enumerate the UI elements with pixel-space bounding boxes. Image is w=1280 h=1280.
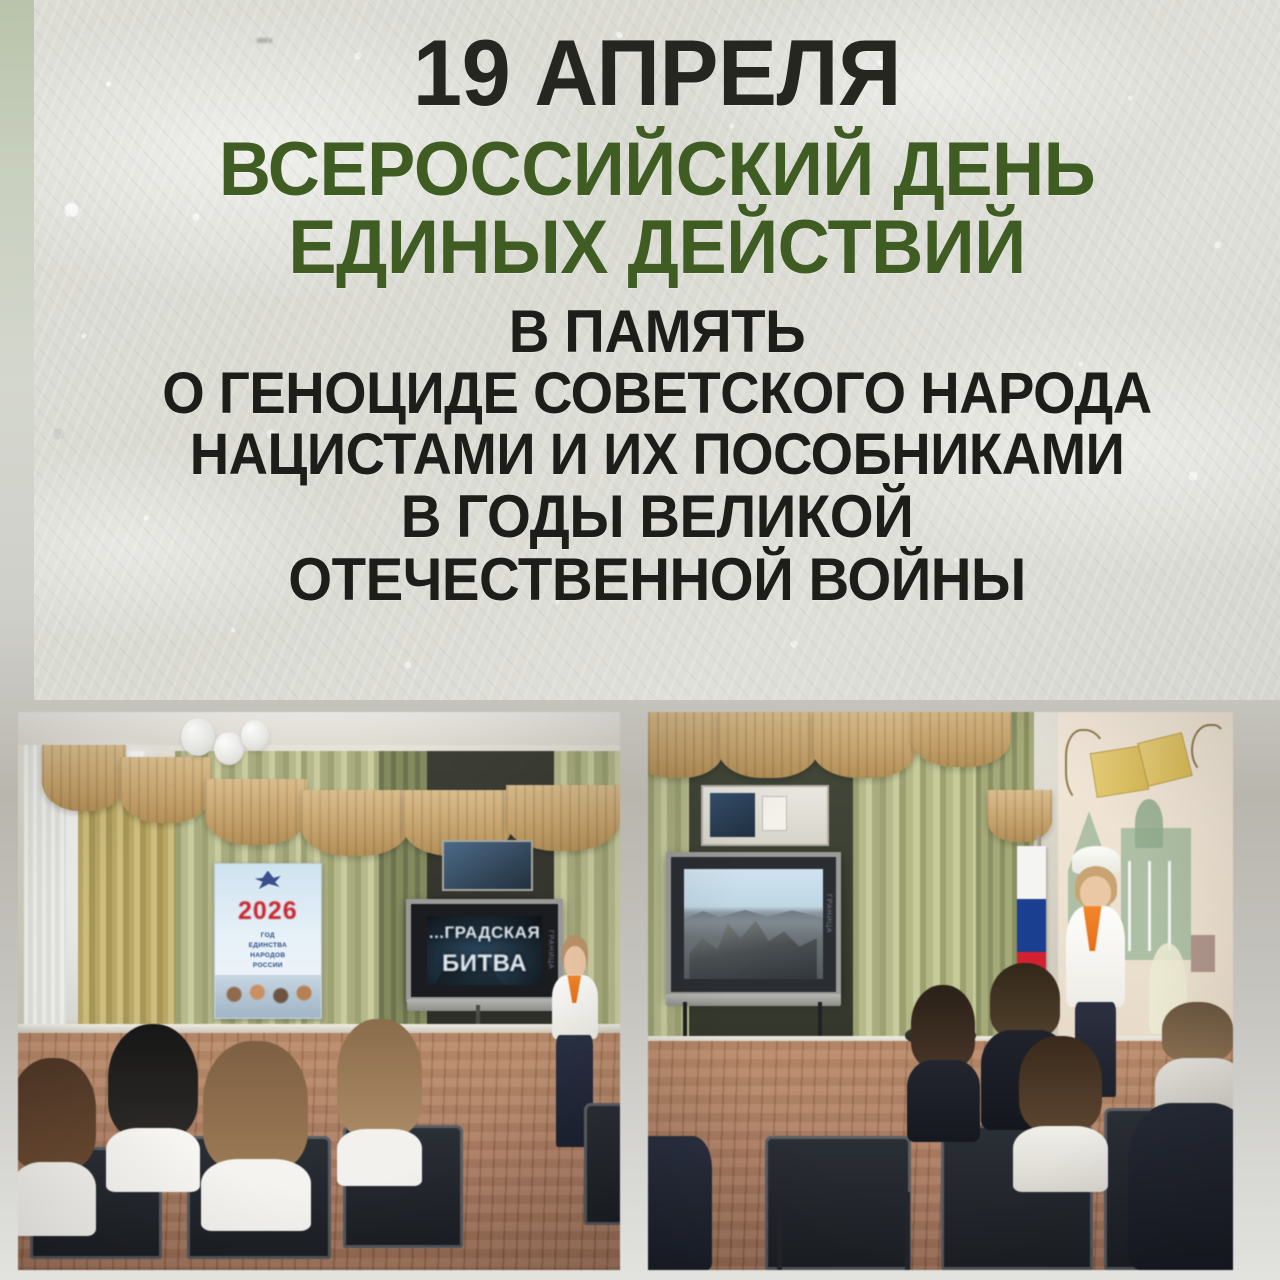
student-hair	[1019, 1036, 1103, 1133]
chair	[584, 1103, 620, 1226]
photo-right: ГРАНИЦА	[648, 712, 1233, 1270]
student-hair	[18, 1058, 96, 1169]
student	[102, 1024, 204, 1191]
student	[199, 1041, 313, 1231]
display-photo	[710, 793, 755, 837]
wall-display-board	[701, 785, 830, 846]
chair	[765, 1136, 911, 1270]
student-shirt	[106, 1128, 200, 1192]
mural-scribble-2	[1191, 724, 1226, 774]
student	[1011, 1036, 1110, 1192]
war-footage-frame	[684, 869, 823, 980]
valance-swag-5	[987, 790, 1051, 842]
valance-swag-2	[718, 712, 817, 778]
presenter-head	[564, 946, 586, 978]
smartboard[interactable]: ГРАНИЦА	[666, 852, 842, 997]
valance-swag-4	[301, 790, 409, 856]
student	[1128, 1103, 1233, 1270]
student-shirt	[201, 1159, 311, 1231]
headline-body-2: О ГЕНОЦИДЕ СОВЕТСКОГО НАРОДА	[71, 365, 1242, 423]
wall-monitor	[442, 840, 532, 890]
student-shirt	[337, 1129, 422, 1186]
mural-band	[1191, 935, 1216, 972]
banner-photo-collage	[215, 975, 321, 1018]
chair-leg	[777, 1203, 782, 1270]
valance-swag-3	[812, 712, 917, 778]
valance-swag-3	[205, 779, 307, 845]
headline-green-1: ВСЕРОССИЙСКИЙ ДЕНЬ	[65, 132, 1249, 208]
photo-left: ...ГРАДСКАЯ БИТВА ГРАНИЦА 2026 ГОДЕДИНСТ…	[18, 712, 620, 1270]
banner-subtitle: ГОДЕДИНСТВАНАРОДОВРОССИИ	[249, 931, 287, 971]
smartboard-tray	[666, 994, 841, 1006]
speaker-head	[1080, 876, 1111, 909]
footage-ridge	[684, 906, 823, 922]
dove-icon	[255, 871, 281, 891]
student-shirt	[18, 1162, 96, 1237]
headline-body-1: В ПАМЯТЬ	[71, 302, 1242, 362]
student-hair	[108, 1024, 198, 1138]
smartboard-side-label: ГРАНИЦА	[825, 894, 832, 934]
headline-panel: 19 АПРЕЛЯ ВСЕРОССИЙСКИЙ ДЕНЬ ЕДИНЫХ ДЕЙС…	[34, 0, 1280, 700]
mural-arches	[1124, 861, 1187, 952]
student-jacket	[1128, 1103, 1233, 1270]
headline-block: 19 АПРЕЛЯ ВСЕРОССИЙСКИЙ ДЕНЬ ЕДИНЫХ ДЕЙС…	[34, 0, 1280, 610]
headline-body-5: ОТЕЧЕСТВЕННОЙ ВОЙНЫ	[71, 550, 1242, 610]
screen-content: ...ГРАДСКАЯ БИТВА ГРАНИЦА	[411, 904, 558, 997]
mural-dome-1	[1135, 799, 1163, 849]
smartboard-content: ГРАНИЦА	[671, 857, 837, 992]
student	[18, 1058, 102, 1237]
ceiling	[18, 712, 620, 745]
mural-ribbon-2	[1137, 732, 1192, 787]
student	[905, 985, 981, 1141]
balloon-3	[241, 720, 269, 751]
student-hair	[911, 985, 975, 1066]
headline-body-4: В ГОДЫ ВЕЛИКОЙ	[71, 487, 1242, 547]
balloon-1	[181, 718, 215, 756]
student-hair	[1162, 1002, 1233, 1061]
film-title-line-1: ...ГРАДСКАЯ	[429, 923, 540, 943]
student-hair	[990, 963, 1060, 1037]
headline-date: 19 АПРЕЛЯ	[71, 26, 1242, 120]
banner-year: 2026	[238, 897, 298, 926]
headline-body-3: НАЦИСТАМИ И ИХ ПОСОБНИКАМИ	[71, 426, 1242, 484]
student	[648, 1136, 712, 1270]
student-jacket	[648, 1136, 712, 1270]
film-title-frame: ...ГРАДСКАЯ БИТВА	[427, 916, 541, 985]
poster-canvas: 19 АПРЕЛЯ ВСЕРОССИЙСКИЙ ДЕНЬ ЕДИНЫХ ДЕЙС…	[0, 0, 1280, 1280]
display-sheet	[762, 796, 787, 832]
student-hair	[203, 1041, 308, 1170]
student-shirt	[1013, 1126, 1108, 1192]
film-title-line-2: БИТВА	[442, 950, 527, 978]
valance-swag-1	[648, 712, 724, 778]
headline-green-2: ЕДИНЫХ ДЕЙСТВИЙ	[65, 210, 1249, 286]
student-jacket	[907, 1060, 980, 1141]
banner-2026: 2026 ГОДЕДИНСТВАНАРОДОВРОССИИ	[214, 863, 322, 1019]
valance-swag-4	[911, 712, 1010, 767]
student-hair	[337, 1019, 422, 1136]
presentation-screen[interactable]: ...ГРАДСКАЯ БИТВА ГРАНИЦА	[406, 899, 563, 1002]
photo-strip: ...ГРАДСКАЯ БИТВА ГРАНИЦА 2026 ГОДЕДИНСТ…	[0, 712, 1280, 1280]
screen-tray	[407, 999, 562, 1011]
balloon-2	[214, 732, 244, 765]
valance-swag-2	[120, 757, 210, 823]
valance-swag-1	[42, 745, 126, 811]
student	[331, 1019, 427, 1186]
chair-leg	[905, 1192, 910, 1270]
